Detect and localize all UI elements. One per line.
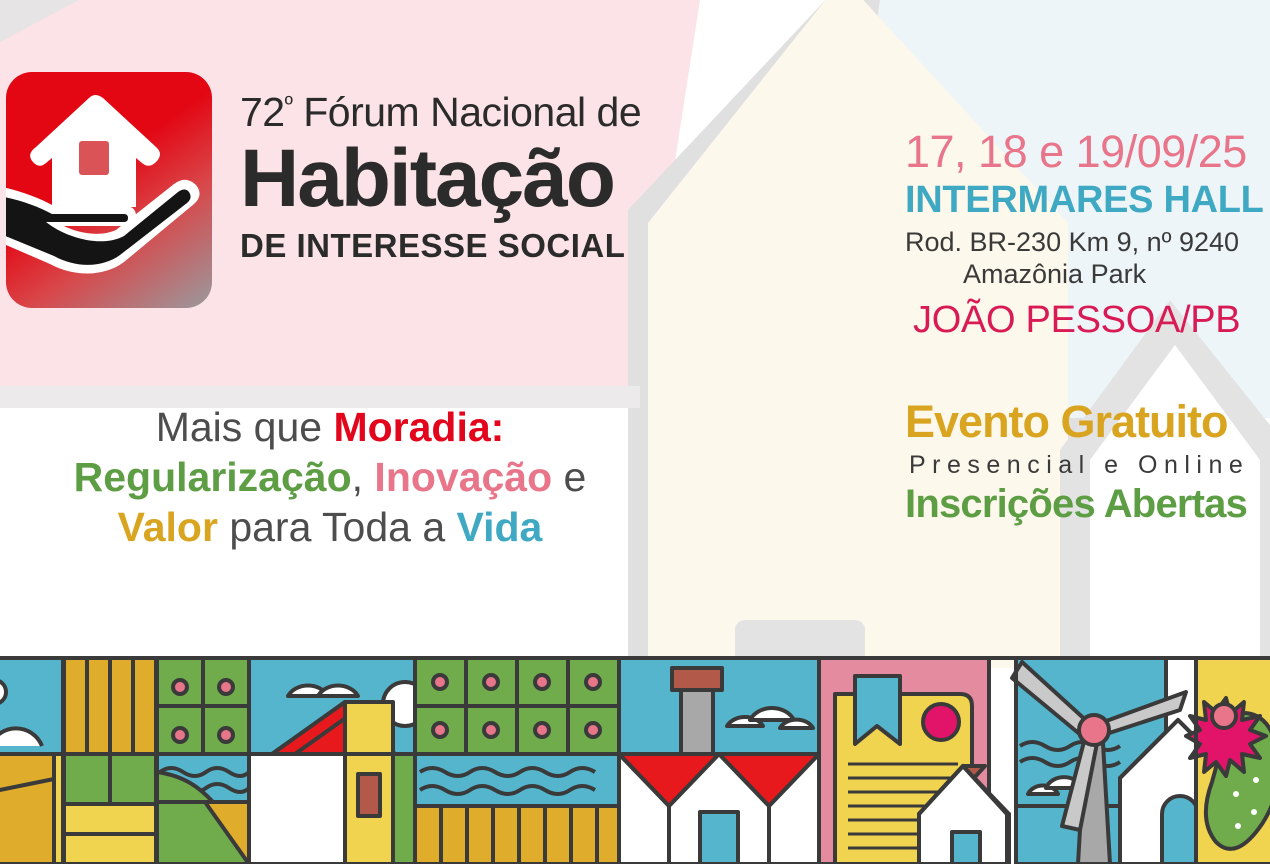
poster-canvas: 72º Fórum Nacional de Habitação DE INTER… (0, 0, 1270, 864)
edition-number: 72 (240, 89, 285, 135)
registration-open-label: Inscrições Abertas (905, 482, 1270, 527)
free-event-label: Evento Gratuito (905, 398, 1270, 445)
house-in-hand-logo (6, 72, 212, 308)
registration-block: Evento Gratuito Presencial e Online Insc… (905, 398, 1270, 527)
title-block: 72º Fórum Nacional de Habitação DE INTER… (240, 92, 710, 265)
event-title: Habitação (240, 139, 710, 219)
slogan-line-2: Regularização, Inovação e (0, 452, 660, 502)
slogan-line3-accent1: Valor (118, 504, 218, 550)
city-illustration-strip (0, 654, 1270, 864)
address-line-1: Rod. BR-230 Km 9, nº 9240 (905, 227, 1239, 257)
edition-line: 72º Fórum Nacional de (240, 92, 710, 133)
slogan-line3-accent2: Vida (457, 504, 543, 550)
edition-rest: Fórum Nacional de (292, 89, 641, 135)
slogan-line1-accent: Moradia: (333, 404, 504, 450)
event-mode-label: Presencial e Online (905, 451, 1270, 480)
slogan-line2-sep: , (352, 454, 375, 500)
event-dates: 17, 18 e 19/09/25 (905, 128, 1270, 175)
event-city: JOÃO PESSOA/PB (905, 301, 1270, 341)
slogan-line2-accent1: Regularização (74, 454, 352, 500)
slogan-line3-plain: para Toda a (218, 504, 457, 550)
slogan-line1-plain: Mais que (156, 404, 334, 450)
event-venue: INTERMARES HALL (905, 181, 1270, 221)
slogan-line2-accent2: Inovação (374, 454, 552, 500)
event-address: Rod. BR-230 Km 9, nº 9240 Amazônia Park (905, 227, 1270, 291)
slogan-line-1: Mais que Moradia: (0, 402, 660, 452)
event-subtitle: DE INTERESSE SOCIAL (240, 227, 710, 265)
event-info-block: 17, 18 e 19/09/25 INTERMARES HALL Rod. B… (905, 128, 1270, 341)
slogan-line-3: Valor para Toda a Vida (0, 502, 660, 552)
house-window-icon (72, 134, 116, 182)
address-line-2: Amazônia Park (905, 259, 1270, 291)
slogan-block: Mais que Moradia: Regularização, Inovaçã… (0, 402, 660, 552)
slogan-line2-tail: e (552, 454, 586, 500)
